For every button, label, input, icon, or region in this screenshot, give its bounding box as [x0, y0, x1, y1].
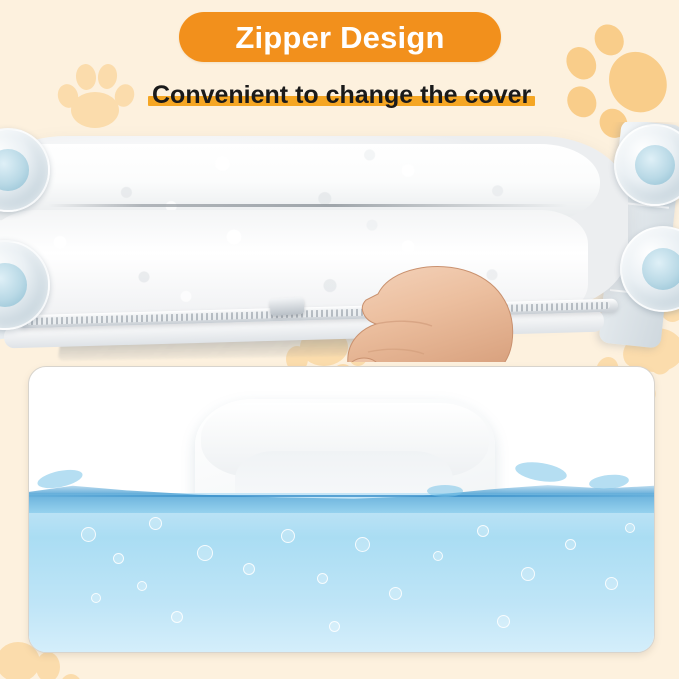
- bubble-icon: [137, 581, 147, 591]
- bubble-icon: [149, 517, 162, 530]
- bubble-icon: [91, 593, 101, 603]
- product-photo-zipper: [0, 122, 679, 362]
- water-splash: [514, 459, 568, 485]
- bubble-icon: [81, 527, 96, 542]
- bubble-icon: [433, 551, 443, 561]
- water-line: [29, 495, 654, 497]
- seam-line: [48, 204, 568, 207]
- bubble-icon: [355, 537, 370, 552]
- zipper-pull: [269, 297, 304, 316]
- page-title-text: Zipper Design: [235, 22, 444, 53]
- page-title: Zipper Design: [179, 12, 501, 62]
- bubble-icon: [317, 573, 328, 584]
- bubble-icon: [625, 523, 635, 533]
- bubble-icon: [521, 567, 535, 581]
- subtitle-change-cover: Convenient to change the cover: [152, 82, 531, 108]
- bubble-icon: [329, 621, 340, 632]
- bubble-icon: [565, 539, 576, 550]
- water-splash: [427, 485, 463, 497]
- paw-print-icon: [56, 58, 128, 130]
- bubble-icon: [171, 611, 183, 623]
- infographic-page: Zipper Design Convenient to change the c…: [0, 0, 679, 679]
- subtitle-change-cover-text: Convenient to change the cover: [152, 82, 531, 108]
- bubble-icon: [389, 587, 402, 600]
- bubble-icon: [497, 615, 510, 628]
- bubble-icon: [243, 563, 255, 575]
- bubble-icon: [477, 525, 489, 537]
- bubble-icon: [197, 545, 213, 561]
- bubble-icon: [281, 529, 295, 543]
- product-photo-wash: [28, 366, 655, 653]
- hand-graphic: [320, 250, 560, 362]
- bubble-icon: [605, 577, 618, 590]
- water-body: [29, 493, 654, 652]
- bubble-icon: [113, 553, 124, 564]
